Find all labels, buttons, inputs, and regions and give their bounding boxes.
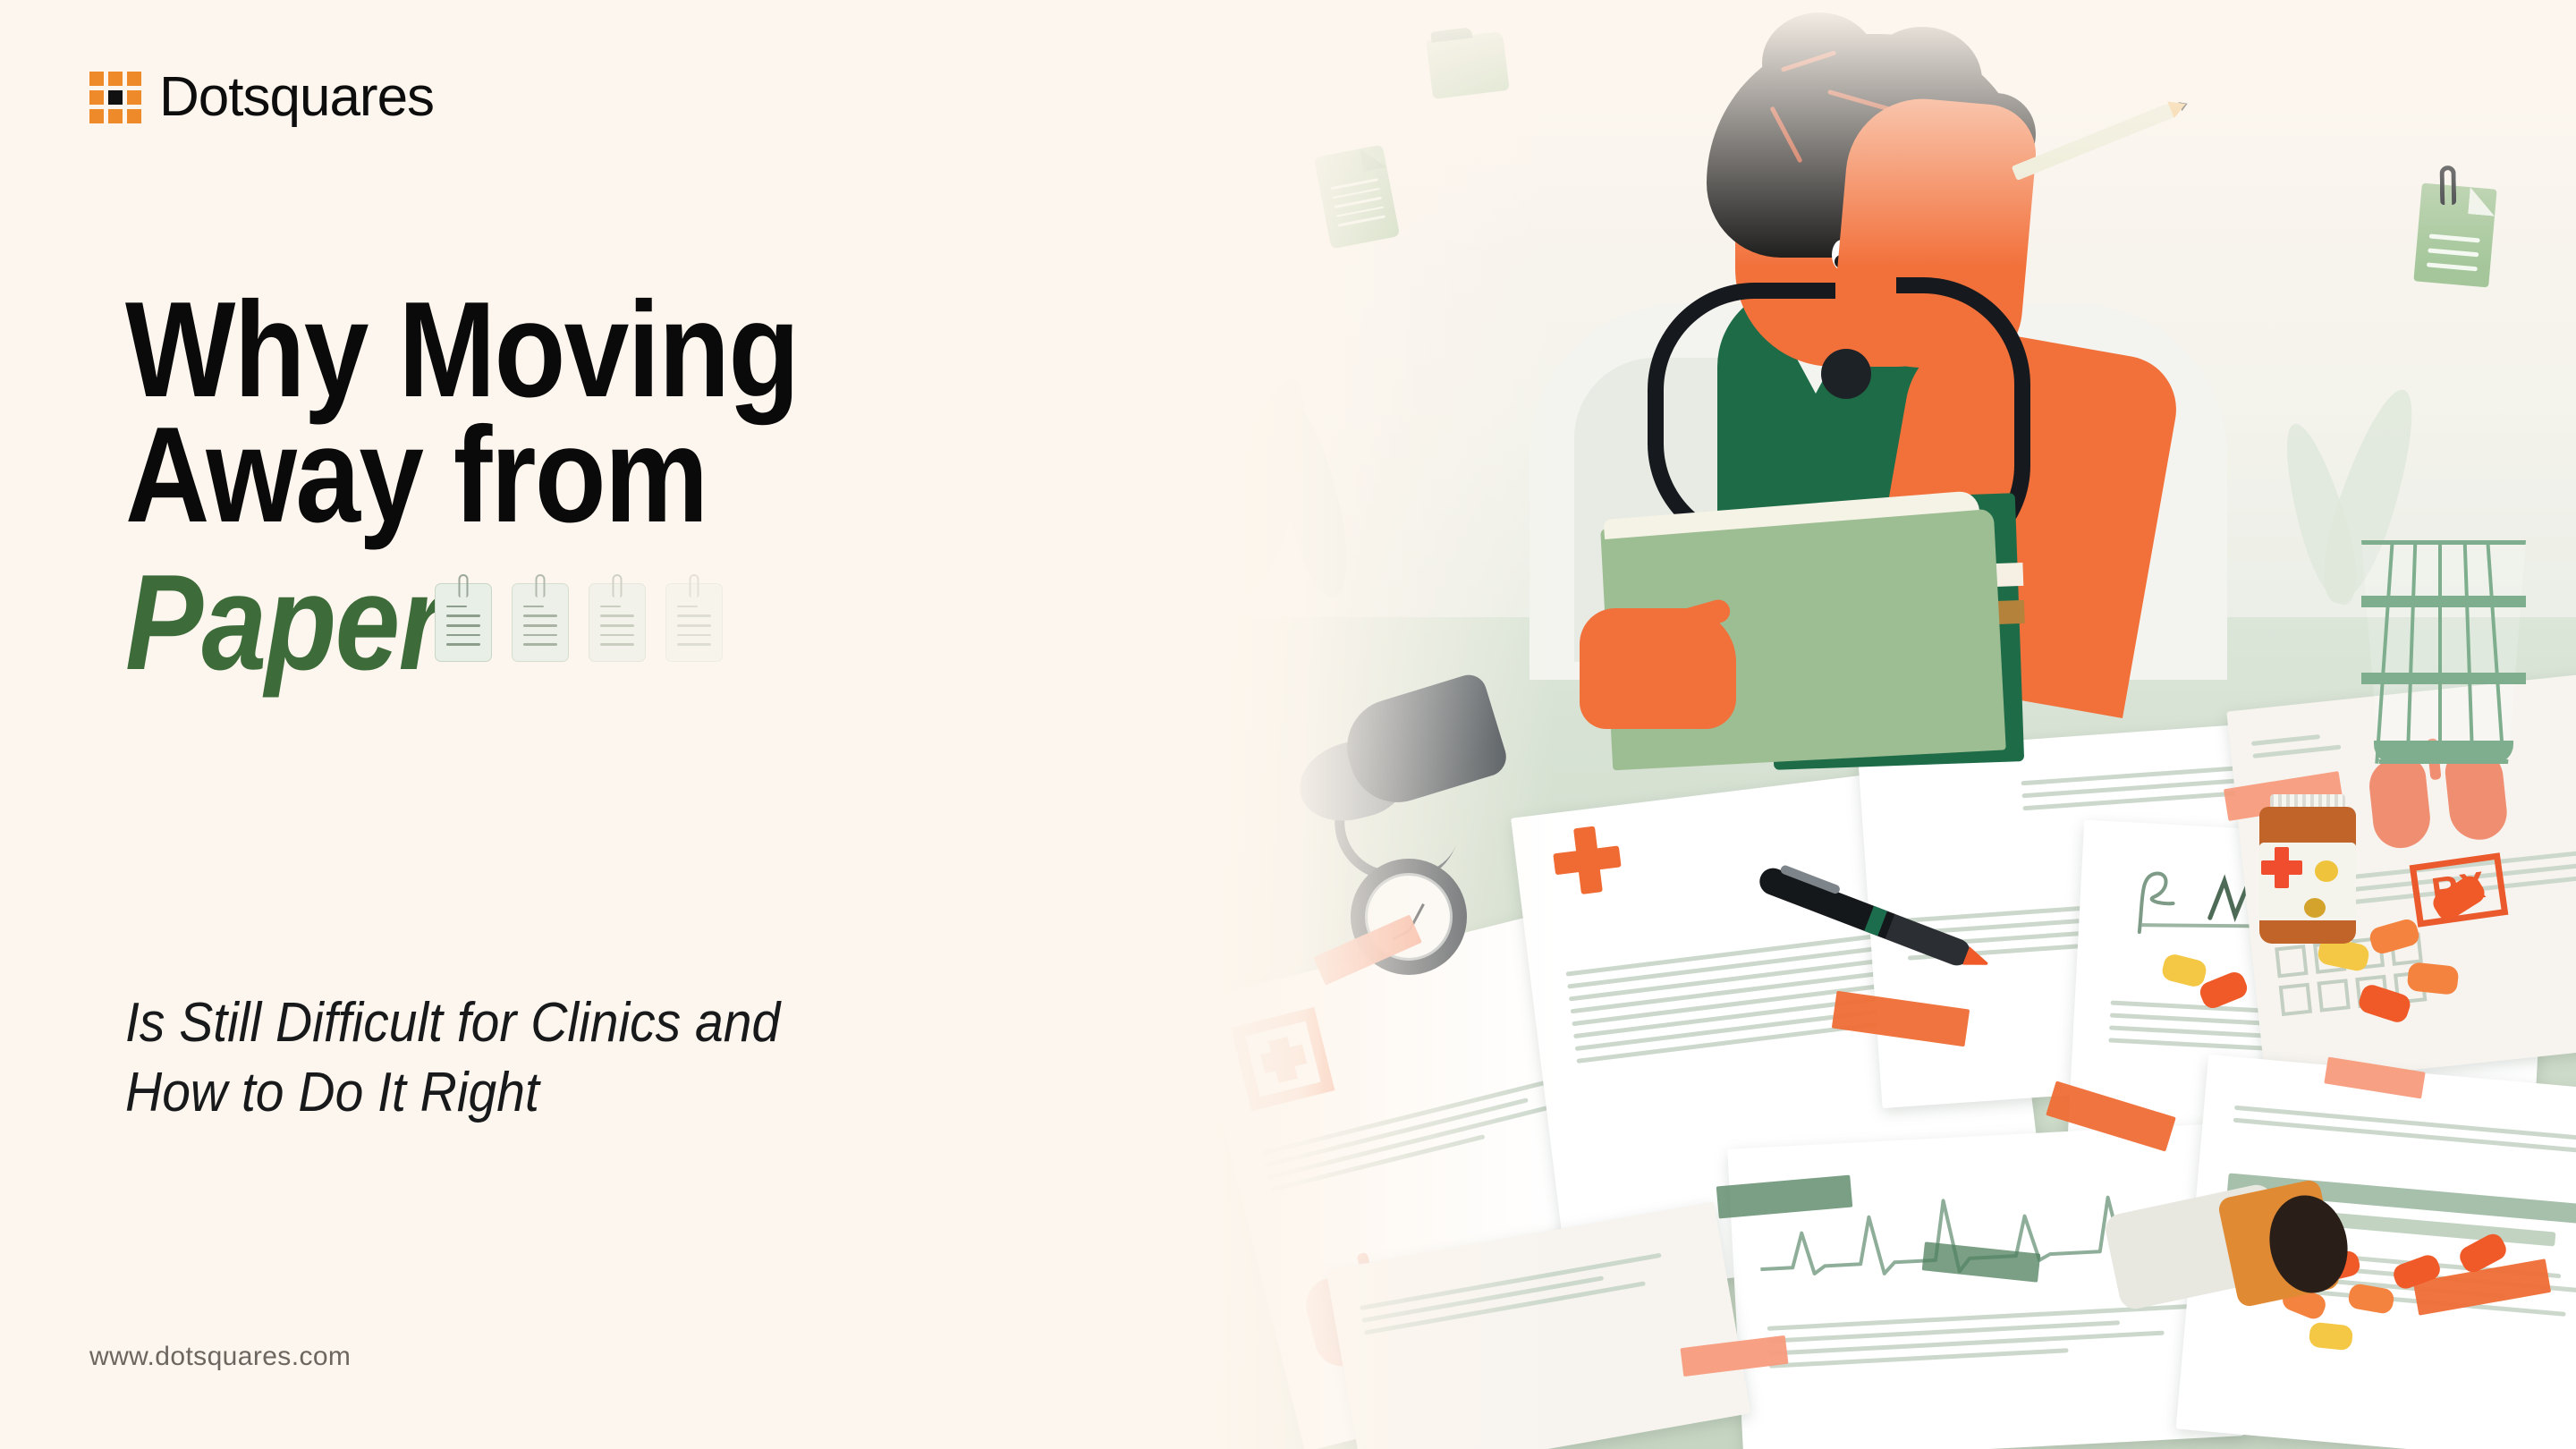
document-lines — [1330, 178, 1385, 226]
paper-note-icon — [589, 583, 646, 662]
label-dot — [2315, 860, 2338, 882]
mesh-pen-cup — [2354, 540, 2533, 764]
paper-text-lines — [2233, 1106, 2576, 1157]
paper-note-icon — [512, 583, 569, 662]
brand-logo[interactable]: Dotsquares — [89, 70, 434, 125]
floating-folder-icon — [1426, 31, 1509, 99]
headline-paper-row: Paper — [125, 558, 1288, 687]
paperclip-icon — [2439, 165, 2456, 205]
paperclip-icon — [613, 574, 623, 597]
subheadline-line-2: How to Do It Right — [125, 1058, 1154, 1128]
pill — [2406, 962, 2459, 996]
label-dot — [2304, 898, 2326, 918]
note-lines — [523, 606, 557, 646]
doctor-figure — [1601, 18, 2156, 698]
paperclip-icon — [536, 574, 546, 597]
dotsquares-grid-icon — [89, 72, 141, 123]
cup-band — [2361, 673, 2526, 684]
pill-bottle — [2254, 787, 2361, 944]
paperclip-icon — [459, 574, 469, 597]
stethoscope-bell-icon — [1821, 349, 1871, 399]
paper-text-lines — [2251, 732, 2351, 758]
medical-cross-icon — [1231, 1007, 1335, 1111]
headline-highlight-word: Paper — [125, 558, 443, 687]
paper-note-icon — [665, 583, 723, 662]
headline-line-2: Away from — [125, 413, 1125, 538]
finger — [1621, 673, 1726, 696]
headline-line-1: Why Moving — [125, 288, 1125, 413]
paper-icon-row — [435, 583, 723, 662]
pill — [2309, 1322, 2354, 1352]
banner-root: RX — [0, 0, 2576, 1449]
hand-holding-folder — [1580, 608, 1736, 729]
spilled-pill-bottle — [2111, 1163, 2334, 1315]
note-lines — [2427, 233, 2480, 271]
finger — [1614, 693, 1712, 729]
note-lines — [446, 606, 480, 646]
cup-base — [2374, 741, 2513, 764]
cup-band — [2361, 596, 2526, 607]
cup-body — [2354, 540, 2533, 764]
lung-lobe — [2367, 756, 2433, 851]
illustration-canvas: RX — [1181, 0, 2576, 1449]
note-lines — [677, 606, 711, 646]
subheadline-block: Is Still Difficult for Clinics and How t… — [125, 988, 1154, 1128]
paper-text-lines — [1360, 1247, 1699, 1335]
note-lines — [600, 606, 634, 646]
subheadline-line-1: Is Still Difficult for Clinics and — [125, 988, 1154, 1058]
paper-note-icon — [435, 583, 492, 662]
illustration: RX — [1181, 0, 2576, 1449]
pencil-icon — [2012, 103, 2175, 181]
brand-name: Dotsquares — [159, 70, 434, 125]
pen-band — [1864, 906, 1887, 936]
headline-block: Why Moving Away from Paper — [125, 288, 1288, 687]
paperclip-note-icon — [2413, 183, 2496, 288]
cup-wire — [2438, 540, 2442, 764]
website-url[interactable]: www.dotsquares.com — [89, 1342, 351, 1372]
bottle-base — [2259, 920, 2356, 944]
paperclip-icon — [690, 574, 699, 597]
